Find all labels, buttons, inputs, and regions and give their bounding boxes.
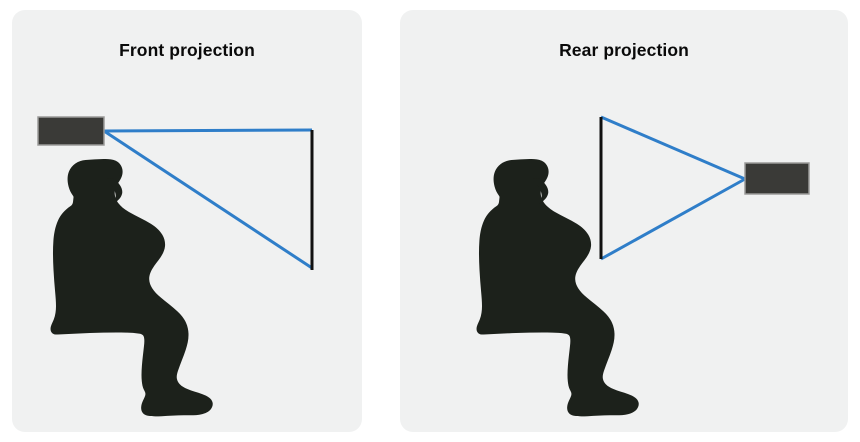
seated-person-silhouette-icon xyxy=(477,159,639,416)
light-beam-icon xyxy=(601,117,745,259)
page-title-rear: Rear projection xyxy=(400,40,848,61)
diagram-canvas: Front projection Rear xyxy=(0,0,860,442)
panel-front-projection: Front projection xyxy=(12,10,362,432)
front-projection-scene xyxy=(12,10,362,432)
projector-icon xyxy=(38,117,104,145)
rear-projection-scene xyxy=(400,10,848,432)
seated-person-silhouette-icon xyxy=(51,159,213,416)
page-title-front: Front projection xyxy=(12,40,362,61)
panel-rear-projection: Rear projection xyxy=(400,10,848,432)
projector-icon xyxy=(745,163,809,194)
